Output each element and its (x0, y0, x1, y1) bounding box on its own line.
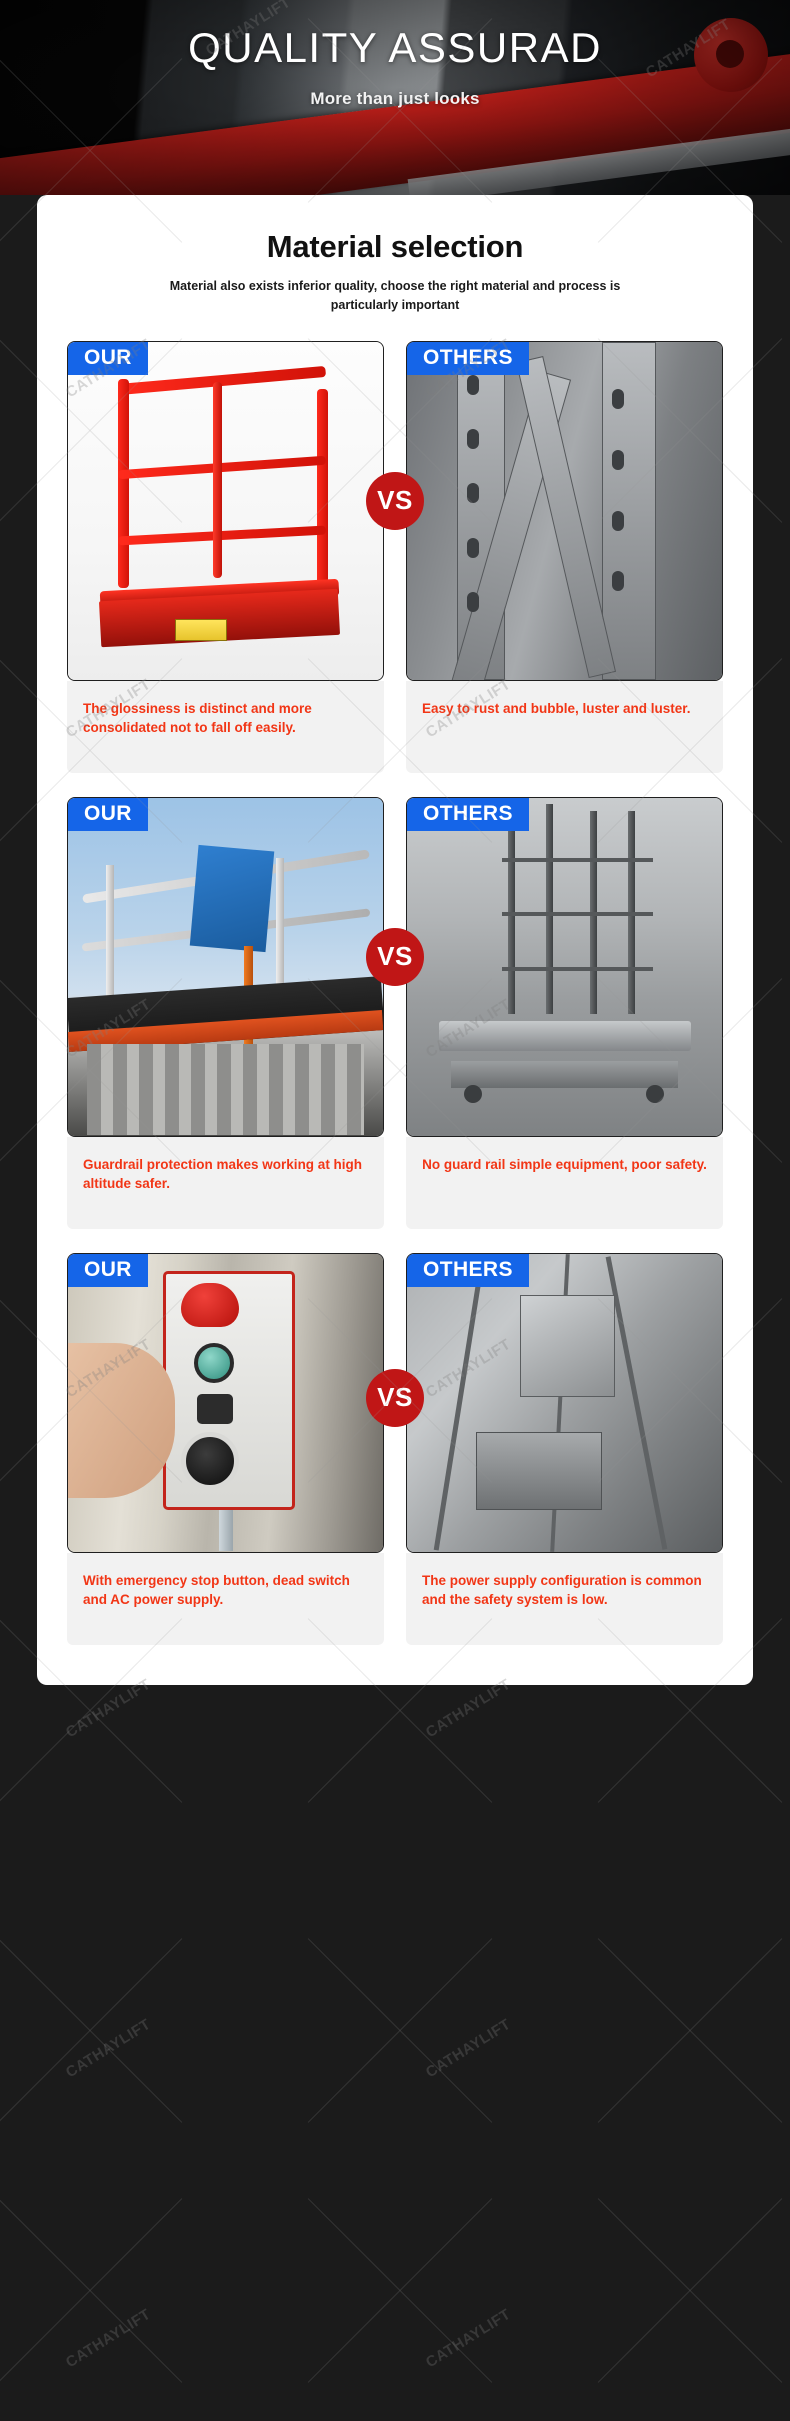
watermark-text: CATHAYLIFT (423, 1676, 514, 1742)
ours-caption-1: The glossiness is distinct and more cons… (67, 681, 384, 773)
red-guardrail-platform-image (68, 342, 383, 680)
others-column-1: OTHERS Easy to rust and bubble, luster a… (406, 341, 723, 773)
badge-others-3: OTHERS (407, 1254, 529, 1287)
ours-photo-3: OUR (67, 1253, 384, 1553)
comparison-row-2: OUR Guardrail protection makes working a… (67, 797, 723, 1229)
ours-caption-2: Guardrail protection makes working at hi… (67, 1137, 384, 1229)
others-column-3: OTHERS The power supply configuration is… (406, 1253, 723, 1645)
vs-badge-1: VS (366, 472, 424, 530)
material-selection-card: Material selection Material also exists … (37, 195, 753, 1685)
badge-ours-1: OUR (68, 342, 148, 375)
badge-ours-3: OUR (68, 1254, 148, 1287)
comparison-row-1: OUR The glossiness is distinct and more … (67, 341, 723, 773)
watermark-text: CATHAYLIFT (63, 2306, 154, 2372)
watermark-text: CATHAYLIFT (63, 2016, 154, 2082)
hero-text-block: QUALITY ASSURAD More than just looks (0, 0, 790, 195)
ours-column-1: OUR The glossiness is distinct and more … (67, 341, 384, 773)
hero-banner: QUALITY ASSURAD More than just looks (0, 0, 790, 195)
ours-column-2: OUR Guardrail protection makes working a… (67, 797, 384, 1229)
badge-others-2: OTHERS (407, 798, 529, 831)
watermark-text: CATHAYLIFT (423, 2016, 514, 2082)
others-caption-1: Easy to rust and bubble, luster and lust… (406, 681, 723, 773)
page-title: Material selection (67, 229, 723, 265)
scissor-lift-guardrail-image (68, 798, 383, 1136)
vs-badge-2: VS (366, 928, 424, 986)
others-caption-3: The power supply configuration is common… (406, 1553, 723, 1645)
section-description: Material also exists inferior quality, c… (160, 277, 630, 315)
badge-ours-2: OUR (68, 798, 148, 831)
vs-badge-3: VS (366, 1369, 424, 1427)
rusty-steel-rack-image (407, 342, 722, 680)
others-column-2: OTHERS No guard rail simple equipment, p… (406, 797, 723, 1229)
ours-caption-3: With emergency stop button, dead switch … (67, 1553, 384, 1645)
watermark-text: CATHAYLIFT (63, 1676, 154, 1742)
basic-power-supply-box-image (407, 1254, 722, 1552)
mast-lift-no-guardrail-image (407, 798, 722, 1136)
ours-photo-2: OUR (67, 797, 384, 1137)
control-panel-emergency-stop-image (68, 1254, 383, 1552)
others-photo-1: OTHERS (406, 341, 723, 681)
others-photo-2: OTHERS (406, 797, 723, 1137)
watermark-text: CATHAYLIFT (423, 2306, 514, 2372)
ours-column-3: OUR With emergency stop button, dead swi… (67, 1253, 384, 1645)
hero-subtitle: More than just looks (0, 89, 790, 109)
hero-title: QUALITY ASSURAD (0, 22, 790, 75)
others-photo-3: OTHERS (406, 1253, 723, 1553)
comparison-row-3: OUR With emergency stop button, dead swi… (67, 1253, 723, 1645)
badge-others-1: OTHERS (407, 342, 529, 375)
others-caption-2: No guard rail simple equipment, poor saf… (406, 1137, 723, 1229)
ours-photo-1: OUR (67, 341, 384, 681)
